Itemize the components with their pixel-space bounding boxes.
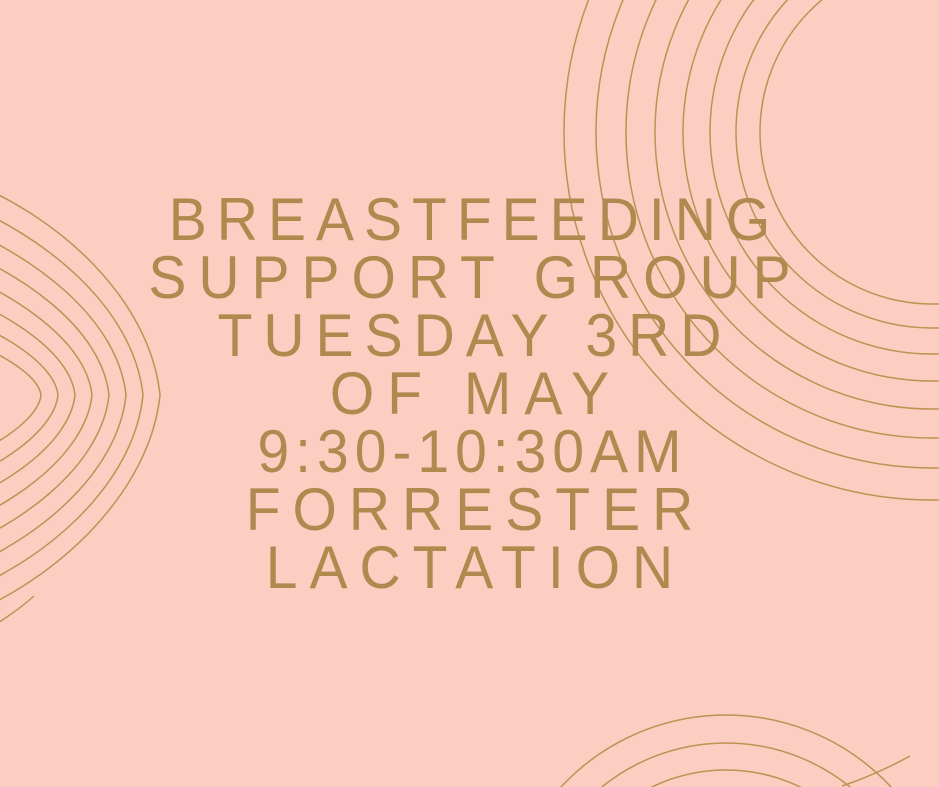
headline-line-1: BREASTFEEDING bbox=[0, 189, 939, 250]
headline-line-2: SUPPORT GROUP bbox=[0, 247, 939, 308]
headline-text-block: BREASTFEEDING SUPPORT GROUP TUESDAY 3RD … bbox=[0, 0, 939, 787]
headline-line-5: 9:30-10:30AM bbox=[0, 421, 939, 482]
headline-line-4: OF MAY bbox=[0, 363, 939, 424]
headline-line-3: TUESDAY 3RD bbox=[0, 305, 939, 366]
headline-line-6: FORRESTER bbox=[0, 479, 939, 540]
poster-canvas: BREASTFEEDING SUPPORT GROUP TUESDAY 3RD … bbox=[0, 0, 939, 787]
headline-line-7: LACTATION bbox=[0, 537, 939, 598]
